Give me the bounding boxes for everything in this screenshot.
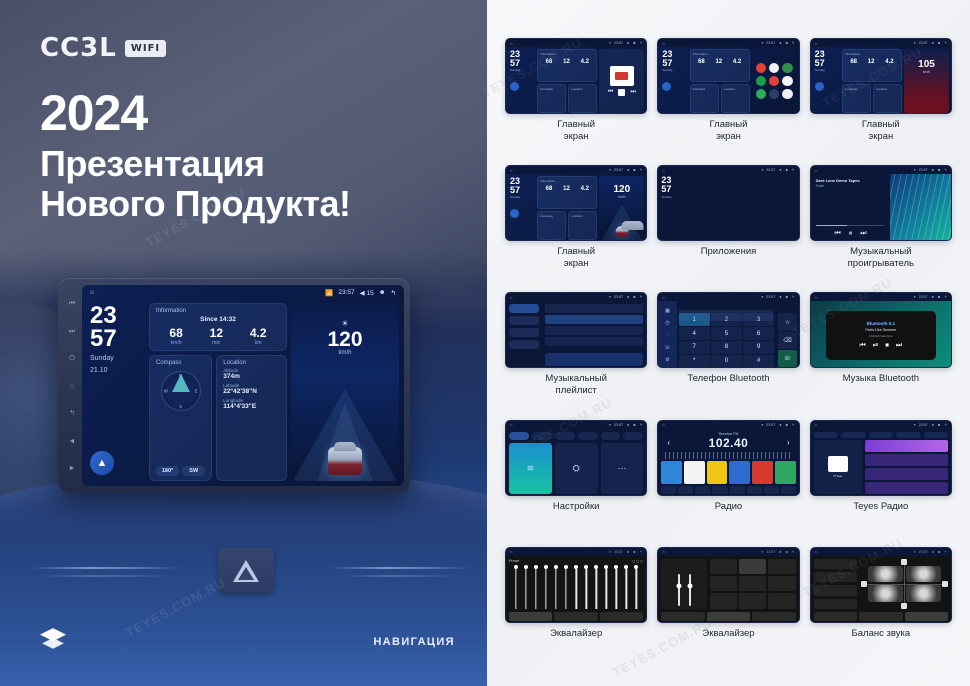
tab-item[interactable] (814, 432, 838, 438)
home-icon: ⌂ (662, 41, 664, 46)
preset-1[interactable] (661, 461, 682, 484)
thumb-clock: 23:57 (766, 550, 775, 554)
prev-station-icon[interactable]: ‹ (667, 438, 670, 447)
gallery-item[interactable]: ⌂▾23:57◄☻↰ ▦◷◌☏⚙ 1 2 3 4 5 6 7 8 (657, 292, 799, 413)
track-artist: Childish Gambino (869, 334, 893, 338)
preset-3[interactable] (707, 461, 728, 484)
assistant-icon[interactable] (815, 82, 824, 91)
volume-down-icon[interactable]: ◄ (69, 438, 76, 445)
screen-thumbnail-apps[interactable]: ⌂▾23:57◄☻↰ 23 57 Sunday (657, 165, 799, 241)
bt-player-panel: Bluetooth 5.1 Feels Like Summer Childish… (826, 311, 935, 360)
screen-thumbnail-home-drive2[interactable]: ⌂▾23:57◄☻↰ 2357Sunday Information68124.2… (505, 165, 647, 241)
mode-tile[interactable] (768, 559, 795, 574)
eq-band[interactable] (552, 565, 560, 609)
eq-band[interactable] (562, 565, 570, 609)
clock-minutes: 57 (90, 328, 143, 351)
tab-fader[interactable] (707, 612, 750, 621)
mode-tile[interactable] (710, 559, 737, 574)
mode-tile[interactable] (739, 576, 766, 591)
location-widget[interactable]: Location (721, 84, 750, 113)
station-row[interactable] (865, 440, 948, 452)
clock-minutes: 57 (662, 59, 685, 68)
wifi-icon: ▾ (609, 423, 611, 427)
app-icon-play-store[interactable] (756, 89, 766, 99)
preset-row[interactable] (814, 559, 857, 569)
screen-thumbnail-home-media[interactable]: ⌂▾23:57◄☻↰ 2357Sunday Information68124.2… (505, 38, 647, 114)
screen-thumbnail-equalizer[interactable]: ⌂▾23:57◄☻↰ Preset◻ ◻ ◻ (505, 547, 647, 623)
app-icon-maps[interactable] (782, 63, 792, 73)
hotspot-card[interactable]: ⛭ (555, 443, 598, 494)
bluetooth-icon: ☻ (785, 423, 789, 427)
prev-icon[interactable]: ⏮ (608, 89, 613, 96)
app-icon-navigation[interactable] (756, 76, 766, 86)
key-4[interactable]: 4 (679, 327, 710, 340)
assistant-icon[interactable] (662, 82, 671, 91)
frequency-row[interactable]: ‹ 102.40 › (661, 436, 795, 450)
key-8[interactable]: 8 (711, 341, 742, 354)
stat-value: 12 (210, 326, 223, 340)
gallery-item[interactable]: ⌂▾23:57◄☻↰ Bluetooth 5.1 Feels Like Summ… (810, 292, 952, 413)
clock-column: 2357Sunday (813, 49, 840, 113)
category-item[interactable] (509, 340, 539, 349)
eq-band[interactable] (512, 565, 520, 609)
app-icon-settings[interactable] (782, 76, 792, 86)
gallery-item[interactable]: ⌂▾23:57◄☻↰ Preset◻ ◻ ◻ (505, 547, 647, 668)
mode-tile[interactable] (739, 593, 766, 608)
screen-thumbnail-home-apps[interactable]: ⌂▾23:57◄☻↰ 2357Sunday Information68124.2… (657, 38, 799, 114)
location-title: Location (724, 87, 747, 91)
stop-icon[interactable] (618, 89, 625, 96)
back-icon: ↰ (639, 550, 642, 554)
home-button-icon[interactable]: ⌂ (90, 289, 320, 296)
eq-band[interactable] (572, 565, 580, 609)
eq-band[interactable] (592, 565, 600, 609)
home-layout: 2357Sunday Information68124.2 CompassLoc… (506, 174, 646, 241)
play-pause-icon[interactable]: ⏯ (873, 342, 879, 350)
driving-widget[interactable]: ☀ 120 km/h (291, 303, 399, 481)
home-icon: ⌂ (510, 422, 512, 427)
lower-widgets-row: Compass N E S W (149, 355, 287, 481)
back-icon: ↰ (639, 168, 642, 172)
gallery-item[interactable]: ⌂▾23:57◄☻↰ (810, 547, 952, 668)
equalizer-tabs[interactable] (661, 612, 795, 621)
dialpad-actions[interactable]: ☆⌫☏ (776, 301, 798, 368)
radio-presets[interactable] (661, 461, 795, 484)
preset-4[interactable] (729, 461, 750, 484)
tab-item[interactable] (896, 432, 920, 438)
stat-value: 4.2 (733, 59, 741, 65)
screen-thumbnail-teyes-radio[interactable]: ⌂▾23:57◄☻↰ ⏮ ⏹ ⏭ (810, 420, 952, 496)
screen-thumbnail-sound-balance[interactable]: ⌂▾23:57◄☻↰ (810, 547, 952, 623)
pause-icon[interactable]: ⏸ (849, 230, 853, 238)
screen-thumbnail-bluetooth-music[interactable]: ⌂▾23:57◄☻↰ Bluetooth 5.1 Feels Like Summ… (810, 292, 952, 368)
station-row[interactable] (865, 468, 948, 480)
bluetooth-icon: ☻ (633, 423, 637, 427)
volume-up-icon[interactable]: ► (69, 465, 76, 472)
balance-right-handle[interactable] (942, 581, 948, 587)
compass-heading: 180° (156, 466, 179, 476)
preset-controls[interactable]: ◻ ◻ ◻ (632, 559, 643, 563)
gallery-item[interactable]: ⌂▾23:57◄☻↰ 2357Sunday Information68124.2… (505, 165, 647, 286)
speed-unit: km/h (904, 70, 949, 74)
clock-column: 2357Sunday (508, 49, 535, 113)
location-widget[interactable]: Location (873, 84, 902, 113)
compass-title: Compass (156, 360, 205, 366)
volume-icon: ◄ (626, 295, 630, 299)
teyes-radio-tabs[interactable] (814, 432, 948, 438)
settings-cards[interactable]: ≋⛭⋯ (509, 443, 643, 494)
gallery-caption: Приложения (701, 246, 757, 258)
screen-thumbnail-home-drive[interactable]: ⌂▾23:57◄☻↰ 2357Sunday Information68124.2… (810, 38, 952, 114)
eq-band[interactable] (632, 565, 640, 609)
track-row[interactable] (545, 337, 643, 346)
home-icon: ⌂ (510, 168, 512, 173)
home-icon: ⌂ (662, 549, 664, 554)
tab-eq[interactable] (814, 612, 857, 621)
wifi-icon: ▾ (761, 168, 763, 172)
eq-band[interactable] (542, 565, 550, 609)
thumb-clock: 23:57 (919, 295, 928, 299)
tab-display[interactable] (555, 432, 575, 440)
station-list[interactable] (865, 440, 948, 494)
player-controls[interactable]: ⏮⏸⏭ (816, 230, 886, 238)
app-icon-radio[interactable] (769, 76, 779, 86)
tab-balance[interactable] (905, 612, 948, 621)
back-icon: ↰ (944, 550, 947, 554)
backspace-icon[interactable]: ⌫ (778, 332, 796, 349)
recents-icon[interactable]: ◷ (665, 320, 669, 326)
toolbar-list[interactable] (695, 486, 710, 494)
tab-item[interactable] (869, 432, 893, 438)
next-station-icon[interactable]: › (787, 438, 790, 447)
driving-widget[interactable]: 120 km/h (599, 176, 644, 240)
settings-icon[interactable]: ⚙ (665, 357, 669, 363)
hero-title-block: 2024 Презентация Нового Продукта! (40, 88, 351, 225)
tab-balance[interactable] (752, 612, 795, 621)
status-volume[interactable]: ◀ 15 (360, 289, 374, 297)
tab-balance[interactable] (600, 612, 643, 621)
information-stats: 68124.2 (693, 59, 747, 65)
screen-thumbnail-music-player[interactable]: ⌂▾23:57◄☻↰ Dark Lane Demo Tapes Drake ⏮⏸… (810, 165, 952, 241)
settings-tabs[interactable] (509, 432, 643, 440)
head-unit-screen[interactable]: ⌂ 📶 23:57 ◀ 15 ☻ ↰ 23 57 Sunday 21.10 (82, 285, 404, 486)
balance-presets[interactable] (814, 559, 857, 609)
track-row[interactable] (545, 315, 643, 324)
tab-fader[interactable] (859, 612, 902, 621)
toolbar-band[interactable] (661, 486, 676, 494)
more-card[interactable]: ⋯ (601, 443, 644, 494)
compass-widget[interactable]: Compass N E S W (149, 355, 212, 481)
call-button[interactable]: ☏ (778, 350, 796, 367)
favorite-icon[interactable]: ☆ (778, 313, 796, 330)
radio-frequency: 102.40 (709, 436, 749, 450)
thumb-status-bar: ⌂▾23:57◄☻↰ (658, 39, 798, 47)
hero-title-line1: Презентация (40, 144, 351, 184)
key-7[interactable]: 7 (679, 341, 710, 354)
key-6[interactable]: 6 (743, 327, 774, 340)
lower-widgets-row: CompassLocation (537, 84, 597, 113)
gallery-caption: Главныйэкран (557, 246, 595, 270)
gallery-caption: Главныйэкран (862, 119, 900, 143)
preset-row[interactable] (814, 599, 857, 609)
app-icon-gallery[interactable] (769, 63, 779, 73)
eq-band[interactable] (532, 565, 540, 609)
album-art (610, 66, 634, 86)
bluetooth-icon: ☻ (785, 295, 789, 299)
balance-tabs[interactable] (814, 612, 948, 621)
tab-sound[interactable] (532, 432, 552, 440)
app-grid[interactable] (752, 49, 797, 113)
app-drawer-grid[interactable] (684, 174, 706, 241)
screen-thumbnail-equalizer-modes[interactable]: ⌂▾23:57◄☻↰ (657, 547, 799, 623)
tab-fader[interactable] (554, 612, 597, 621)
radio-dial[interactable] (665, 452, 791, 459)
eq-band[interactable] (602, 565, 610, 609)
home-icon: ⌂ (662, 168, 664, 173)
equalizer-layout: Preset◻ ◻ ◻ (506, 556, 646, 623)
preset-6[interactable] (775, 461, 796, 484)
screen-thumbnail-settings[interactable]: ⌂▾23:57◄☻↰ ≋⛭⋯ (505, 420, 647, 496)
driving-widget[interactable]: 105 km/h (904, 49, 949, 113)
screen-thumbnail-radio[interactable]: ⌂▾23:57◄☻↰ Receiver FM ‹ 102.40 › (657, 420, 799, 496)
information-widget[interactable]: Information68124.2 (842, 49, 902, 82)
app-icon-music[interactable] (756, 63, 766, 73)
tab-about[interactable] (623, 432, 643, 440)
next-icon[interactable]: ⏭ (860, 230, 866, 238)
eq-band[interactable] (612, 565, 620, 609)
contacts-icon[interactable]: ☏ (664, 345, 670, 351)
back-icon: ↰ (792, 295, 795, 299)
gallery-item[interactable]: ⌂▾23:57◄☻↰ 2357Sunday Information68124.2… (505, 38, 647, 159)
information-stats: 68124.2 (540, 59, 594, 65)
lower-widgets-row: CompassLocation (690, 84, 750, 113)
compass-widget[interactable]: Compass (537, 211, 566, 240)
toolbar-apps[interactable] (781, 486, 796, 494)
media-controls[interactable]: ⏮⏭ (608, 89, 636, 96)
eq-band[interactable] (582, 565, 590, 609)
progress-bar[interactable] (816, 225, 886, 227)
longitude-value: 114°4'33"E (223, 403, 280, 410)
search-icon[interactable]: ◌ (666, 332, 669, 338)
toolbar-loc[interactable] (730, 486, 745, 494)
fader-sliders[interactable] (661, 559, 707, 609)
track-row[interactable] (545, 304, 643, 313)
track-row[interactable] (545, 326, 643, 335)
compass-south: S (179, 404, 182, 409)
tab-apps[interactable] (601, 432, 621, 440)
back-icon[interactable]: ↰ (69, 410, 75, 417)
hazard-lights-button[interactable] (218, 548, 274, 594)
location-widget[interactable]: Location (568, 84, 597, 113)
stat-value: 12 (563, 186, 570, 192)
track-list[interactable] (542, 301, 646, 368)
player-controls[interactable]: ⏮⏯⏹⏭ (859, 342, 902, 350)
gallery-caption: Музыка Bluetooth (843, 373, 919, 385)
category-item[interactable] (509, 328, 539, 337)
now-playing-bar[interactable] (545, 353, 643, 366)
gallery-caption: Главныйэкран (557, 119, 595, 143)
screens-gallery-panel: ⌂▾23:57◄☻↰ 2357Sunday Information68124.2… (487, 0, 970, 686)
compass-widget[interactable]: Compass (842, 84, 871, 113)
hero-title-line2: Нового Продукта! (40, 184, 351, 224)
toolbar-settings[interactable] (764, 486, 779, 494)
location-title: Location (571, 87, 594, 91)
tab-wlan[interactable] (509, 432, 529, 440)
preset-row[interactable] (814, 585, 857, 595)
location-widget[interactable]: Location (568, 211, 597, 240)
btn-prev-icon[interactable]: ⏮ (69, 300, 75, 307)
information-widget[interactable]: Information Since 14:32 68 km/h 12 min (149, 303, 287, 351)
key-9[interactable]: 9 (743, 341, 774, 354)
mode-tile[interactable] (710, 576, 737, 591)
location-widget[interactable]: Location Altitude 374m Latitude 22°42'38… (216, 355, 287, 481)
stat-value: 68 (169, 326, 182, 340)
screen-thumbnail-playlist[interactable]: ⌂▾23:57◄☻↰ (505, 292, 647, 368)
playlist-categories[interactable] (506, 301, 542, 368)
thumb-clock: 23:57 (766, 423, 775, 427)
home-icon: ⌂ (815, 41, 817, 46)
tab-eq[interactable] (661, 612, 704, 621)
compass-title: Compass (693, 87, 716, 91)
station-controls[interactable]: ⏮ ⏹ ⏭ (834, 474, 843, 478)
preset-2[interactable] (684, 461, 705, 484)
home-icon: ⌂ (815, 549, 817, 554)
information-widget[interactable]: Information68124.2 (690, 49, 750, 82)
mode-tile[interactable] (710, 593, 737, 608)
back-icon[interactable]: ↰ (391, 289, 396, 297)
balance-pad[interactable] (861, 559, 948, 609)
key-hash[interactable]: # (743, 355, 774, 368)
assistant-icon[interactable] (510, 82, 519, 91)
bluetooth-icon[interactable]: ☻ (379, 289, 386, 296)
bluetooth-icon: ☻ (785, 550, 789, 554)
clock-column: 23 57 Sunday (658, 174, 683, 241)
mode-tile[interactable] (768, 593, 795, 608)
tab-item[interactable] (924, 432, 948, 438)
information-widget[interactable]: Information68124.2 (537, 49, 597, 82)
volume-icon: ◄ (931, 168, 935, 172)
dialpad-icon[interactable]: ▦ (665, 308, 670, 314)
equalizer-bands[interactable] (509, 565, 643, 609)
track-title: Dark Lane Demo Tapes (816, 178, 886, 183)
tab-item[interactable] (841, 432, 865, 438)
eq-band[interactable] (622, 565, 630, 609)
home-icon: ⌂ (815, 168, 817, 173)
tab-system[interactable] (578, 432, 598, 440)
key-5[interactable]: 5 (711, 327, 742, 340)
station-card[interactable]: ⏮ ⏹ ⏭ (814, 440, 862, 494)
station-logo (828, 456, 848, 472)
compass-widget[interactable]: Compass (690, 84, 719, 113)
key-0[interactable]: 0 (711, 355, 742, 368)
volume-icon: ◄ (778, 41, 782, 45)
brand-name: CC3L (40, 33, 117, 63)
station-row[interactable] (865, 454, 948, 466)
media-player: ⏮⏭ (599, 49, 644, 113)
category-item[interactable] (509, 304, 539, 313)
bluetooth-music-layout: Bluetooth 5.1 Feels Like Summer Childish… (811, 301, 951, 368)
location-latitude: Latitude 22°42'38"N (223, 383, 280, 395)
power-icon[interactable]: ⏻ (69, 355, 75, 362)
btn-next-icon[interactable]: ⏭ (69, 328, 75, 335)
volume-icon: ◄ (778, 550, 782, 554)
assistant-icon[interactable]: ▲ (90, 451, 114, 475)
location-longitude: Longitude 114°4'33"E (223, 398, 280, 410)
key-star[interactable]: * (679, 355, 710, 368)
stat-unit: min (210, 340, 223, 346)
assistant-icon[interactable] (510, 209, 519, 218)
preset-row[interactable] (814, 572, 857, 582)
category-item[interactable] (509, 316, 539, 325)
gallery-item[interactable]: ⌂▾23:57◄☻↰ 2357Sunday Information68124.2… (657, 38, 799, 159)
information-stats: 68 km/h 12 min 4.2 km (156, 326, 280, 346)
toolbar-scan[interactable] (678, 486, 693, 494)
mode-tile[interactable] (739, 559, 766, 574)
prev-icon[interactable]: ⏮ (859, 342, 865, 350)
gallery-item[interactable]: ⌂▾23:57◄☻↰ 2357Sunday Information68124.2… (810, 38, 952, 159)
thumb-status-bar: ⌂▾23:57◄☻↰ (811, 548, 951, 556)
equalizer-modes-layout (658, 556, 798, 623)
wifi-card[interactable]: ≋ (509, 443, 552, 494)
station-row[interactable] (865, 482, 948, 494)
radio-toolbar[interactable] (661, 486, 795, 494)
preset-5[interactable] (752, 461, 773, 484)
equalizer-tabs[interactable] (509, 612, 643, 621)
gallery-item[interactable]: ⌂▾23:57◄☻↰ Музыкальныйплейлист (505, 292, 647, 413)
sound-mode-grid[interactable] (710, 559, 796, 609)
media-widget[interactable]: ⏮⏭ (599, 49, 644, 113)
fader-right[interactable] (689, 574, 691, 606)
app-shortcuts-widget[interactable] (752, 49, 797, 113)
gallery-item[interactable]: ⌂▾23:57◄☻↰ Receiver FM ‹ 102.40 › (657, 420, 799, 541)
gallery-item[interactable]: ⌂▾23:57◄☻↰ 23 57 Sunday (657, 165, 799, 286)
dialpad-layout: ▦◷◌☏⚙ 1 2 3 4 5 6 7 8 9 * (658, 301, 798, 368)
number-display[interactable] (678, 310, 773, 321)
mode-tile[interactable] (768, 576, 795, 591)
thumb-status-bar: ⌂▾23:57◄☻↰ (506, 166, 646, 174)
information-widget[interactable]: Information68124.2 (537, 176, 597, 209)
prev-icon[interactable]: ⏮ (834, 230, 840, 238)
gallery-item[interactable]: ⌂▾23:57◄☻↰ ⏮ ⏹ ⏭ Teyes Радио (810, 420, 952, 541)
gallery-item[interactable]: ⌂▾23:57◄☻↰ Dark Lane Demo Tapes Drake ⏮⏸… (810, 165, 952, 286)
app-icon-all-apps[interactable] (782, 89, 792, 99)
clock-widget[interactable]: 23 57 Sunday 21.10 ▲ (87, 303, 145, 481)
toolbar-st[interactable] (747, 486, 762, 494)
app-icon-files[interactable] (769, 89, 779, 99)
balance-crosshair (861, 559, 948, 609)
balance-up-handle[interactable] (901, 559, 907, 565)
gallery-item[interactable]: ⌂▾23:57◄☻↰ Эквалайзер (657, 547, 799, 668)
fader-left[interactable] (678, 574, 680, 606)
stop-icon[interactable]: ⏹ (885, 342, 889, 350)
next-icon[interactable]: ⏭ (896, 342, 902, 350)
screen-thumbnail-bluetooth-phone[interactable]: ⌂▾23:57◄☻↰ ▦◷◌☏⚙ 1 2 3 4 5 6 7 8 (657, 292, 799, 368)
gallery-item[interactable]: ⌂▾23:57◄☻↰ ≋⛭⋯ Настройки (505, 420, 647, 541)
home-icon[interactable]: ⌂ (70, 383, 74, 390)
track-artist: Drake (816, 184, 886, 188)
head-unit-side-buttons[interactable]: ⏮ ⏭ ⏻ ⌂ ↰ ◄ ► (64, 294, 80, 478)
balance-left-handle[interactable] (861, 581, 867, 587)
toolbar-eq[interactable] (712, 486, 727, 494)
speed-unit: km/h (291, 350, 399, 356)
eq-band[interactable] (522, 565, 530, 609)
tab-eq[interactable] (509, 612, 552, 621)
next-icon[interactable]: ⏭ (630, 89, 635, 96)
compass-widget[interactable]: Compass (537, 84, 566, 113)
balance-down-handle[interactable] (901, 603, 907, 609)
thumb-status-bar: ⌂▾23:57◄☻↰ (811, 293, 951, 301)
phone-nav-rail[interactable]: ▦◷◌☏⚙ (658, 301, 676, 368)
